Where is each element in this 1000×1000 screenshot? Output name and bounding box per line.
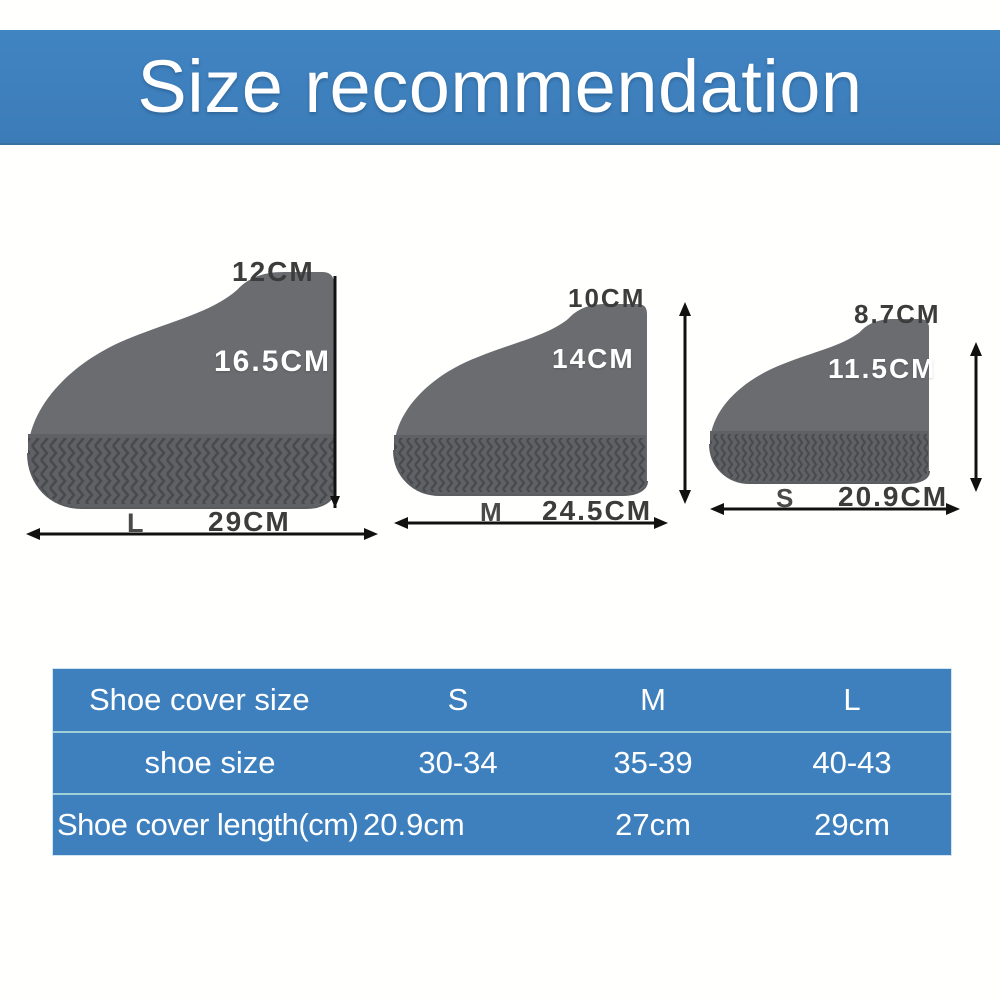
cell-shoe-size-m: 35-39 [553, 745, 753, 781]
length-measure-arrow-large [26, 528, 378, 540]
size-letter-medium: M [480, 497, 503, 528]
size-letter-small: S [776, 483, 794, 514]
page-title: Size recommendation [137, 50, 862, 124]
cell-shoe-size-l: 40-43 [753, 745, 951, 781]
cell-size-s-header: S [363, 682, 553, 718]
height-measure-arrow-small [970, 342, 982, 492]
shoe-figure-small: 8.7CM 11.5CM S 20.9CM [706, 305, 990, 560]
cell-shoe-cover-length-m: 27cm [553, 807, 753, 843]
row-header-shoe-size: shoe size [53, 745, 363, 781]
top-width-label-medium: 10CM [568, 283, 645, 314]
shoe-cover-illustration-small [706, 305, 990, 560]
header-banner: Size recommendation [0, 30, 1000, 145]
length-label-small: 20.9CM [838, 481, 948, 513]
shoe-cover-illustration-large [22, 250, 382, 560]
cell-shoe-size-s: 30-34 [363, 745, 553, 781]
row-header-shoe-cover-length: Shoe cover length(cm) [53, 807, 363, 843]
table-row-shoe-cover-size: Shoe cover size S M L [53, 669, 951, 731]
cell-size-l-header: L [753, 682, 951, 718]
shoe-figure-large: 12CM 16.5CM L 29CM [22, 250, 382, 560]
table-row-shoe-size: shoe size 30-34 35-39 40-43 [53, 731, 951, 793]
size-letter-large: L [127, 508, 145, 539]
height-label-medium: 14CM [552, 343, 635, 375]
length-label-medium: 24.5CM [542, 495, 652, 527]
height-measure-arrow-medium [679, 302, 691, 504]
table-row-shoe-cover-length: Shoe cover length(cm) 20.9cm 27cm 29cm [53, 793, 951, 855]
size-recommendation-infographic: Size recommendation [0, 0, 1000, 1000]
shoe-figures-group: 12CM 16.5CM L 29CM [0, 200, 1000, 580]
size-chart-table: Shoe cover size S M L shoe size 30-34 35… [52, 668, 952, 856]
top-width-label-small: 8.7CM [854, 299, 941, 330]
height-label-large: 16.5CM [214, 345, 331, 379]
shoe-sole-tread-medium [390, 435, 700, 501]
height-arrow-head-large [330, 496, 340, 508]
height-label-small: 11.5CM [828, 353, 937, 385]
cell-shoe-cover-length-l: 29cm [753, 807, 951, 843]
shoe-figure-medium: 10CM 14CM M 24.5CM [390, 285, 700, 560]
row-header-shoe-cover-size: Shoe cover size [53, 682, 363, 718]
length-label-large: 29CM [208, 506, 291, 538]
cell-size-m-header: M [553, 682, 753, 718]
top-width-label-large: 12CM [232, 256, 315, 288]
cell-shoe-cover-length-s: 20.9cm [363, 807, 553, 843]
